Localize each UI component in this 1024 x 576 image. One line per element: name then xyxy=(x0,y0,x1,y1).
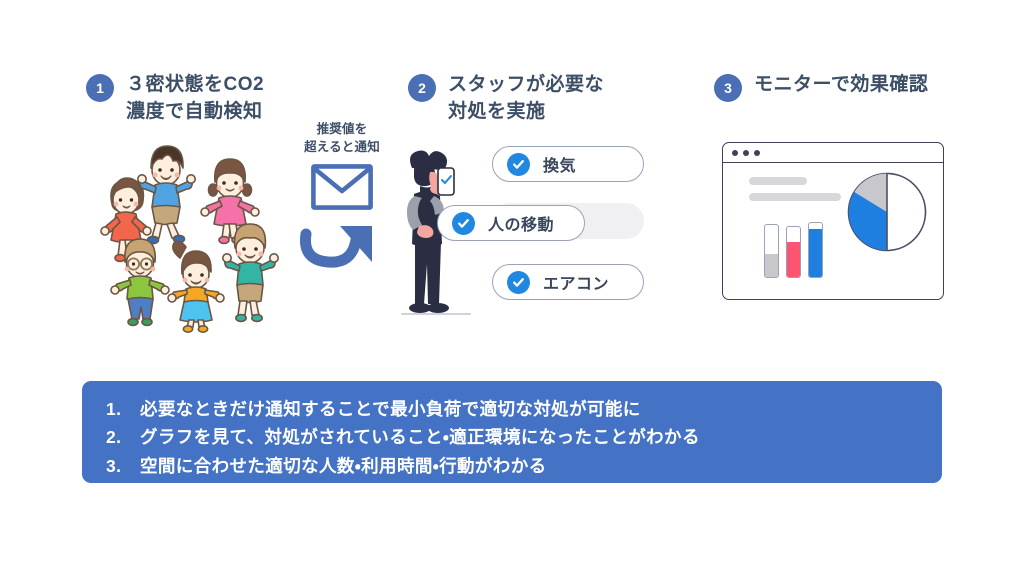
gray-gauge xyxy=(764,224,779,278)
window-dot-3 xyxy=(754,150,760,156)
notification-text: 推奨値を 超えると通知 xyxy=(292,120,392,156)
check-circle-icon xyxy=(507,153,530,176)
summary-item-number: 1. xyxy=(106,395,140,423)
placeholder-text-line-2 xyxy=(749,193,841,201)
step-header-3: 3 モニターで効果確認 xyxy=(714,72,964,102)
summary-item: 2. グラフを見て、対処がされていること・適正環境になったことがわかる xyxy=(106,423,942,451)
envelope-icon xyxy=(292,164,392,215)
summary-item-number: 2. xyxy=(106,423,140,451)
step-badge-1: 1 xyxy=(86,74,114,102)
gauge-fill xyxy=(809,229,822,277)
summary-item: 3. 空間に合わせた適切な人数・利用時間・行動がわかる xyxy=(106,452,942,480)
dashboard-window xyxy=(722,142,944,300)
notification-group: 推奨値を 超えると通知 xyxy=(292,120,392,215)
step-badge-2: 2 xyxy=(408,74,436,102)
gauge-fill xyxy=(765,254,778,277)
step-title-2: スタッフが必要な 対処を実施 xyxy=(448,72,604,126)
staff-with-phone-illustration xyxy=(396,146,476,336)
window-title-bar xyxy=(723,143,943,163)
slide-canvas: 1 ３密状態をCO2 濃度で自動検知 xyxy=(0,0,1024,576)
gauge-fill xyxy=(787,242,800,277)
checklist-item-air-conditioner[interactable]: エアコン xyxy=(492,264,644,300)
step-title-3: モニターで効果確認 xyxy=(754,72,928,99)
summary-item-number: 3. xyxy=(106,452,140,480)
checklist-label: エアコン xyxy=(543,270,609,294)
placeholder-text-line-1 xyxy=(749,177,807,185)
step-header-2: 2 スタッフが必要な 対処を実施 xyxy=(408,72,648,126)
check-circle-icon xyxy=(452,212,475,235)
step-header-1: 1 ３密状態をCO2 濃度で自動検知 xyxy=(86,72,316,126)
summary-item: 1. 必要なときだけ通知することで最小負荷で適切な対処が可能に xyxy=(106,395,942,423)
pink-gauge xyxy=(786,226,801,278)
six-children-illustration xyxy=(98,138,293,333)
summary-box: 1. 必要なときだけ通知することで最小負荷で適切な対処が可能に 2. グラフを見… xyxy=(82,381,942,483)
window-dot-2 xyxy=(743,150,749,156)
checklist-item-ventilation[interactable]: 換気 xyxy=(492,146,644,182)
checklist-item-people-movement[interactable]: 人の移動 xyxy=(437,205,585,241)
step-title-1: ３密状態をCO2 濃度で自動検知 xyxy=(126,72,264,126)
curved-arrow-icon xyxy=(300,222,378,283)
summary-item-text: 空間に合わせた適切な人数・利用時間・行動がわかる xyxy=(140,452,547,480)
window-dot-1 xyxy=(732,150,738,156)
checklist-label: 人の移動 xyxy=(488,211,554,235)
step-badge-3: 3 xyxy=(714,74,742,102)
summary-item-text: 必要なときだけ通知することで最小負荷で適切な対処が可能に xyxy=(140,395,641,423)
check-circle-icon xyxy=(507,271,530,294)
pie-chart xyxy=(846,171,928,253)
summary-item-text: グラフを見て、対処がされていること・適正環境になったことがわかる xyxy=(140,423,700,451)
blue-gauge xyxy=(808,222,823,278)
checklist-label: 換気 xyxy=(543,152,576,176)
